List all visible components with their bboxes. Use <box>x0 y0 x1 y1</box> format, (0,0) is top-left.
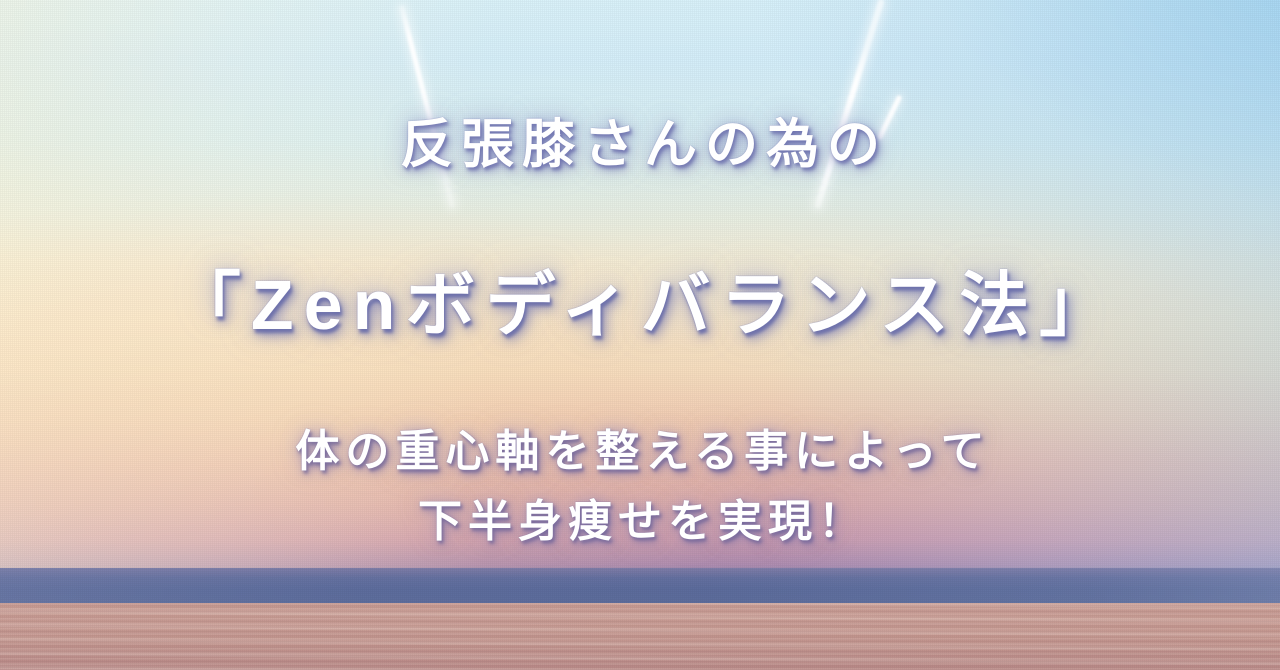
banner-subtitle: 体の重心軸を整える事によって 下半身痩せを実現！ <box>0 430 1280 570</box>
banner-subtitle-line-2: 下半身痩せを実現！ <box>0 500 1280 544</box>
banner-subtitle-line-1: 体の重心軸を整える事によって <box>0 430 1280 474</box>
banner-main-title: 「Zenボディバランス法」 <box>0 270 1280 340</box>
hero-banner: 反張膝さんの為の 「Zenボディバランス法」 体の重心軸を整える事によって 下半… <box>0 0 1280 670</box>
banner-kicker: 反張膝さんの為の <box>0 118 1280 171</box>
banner-text-content: 反張膝さんの為の 「Zenボディバランス法」 体の重心軸を整える事によって 下半… <box>0 0 1280 670</box>
